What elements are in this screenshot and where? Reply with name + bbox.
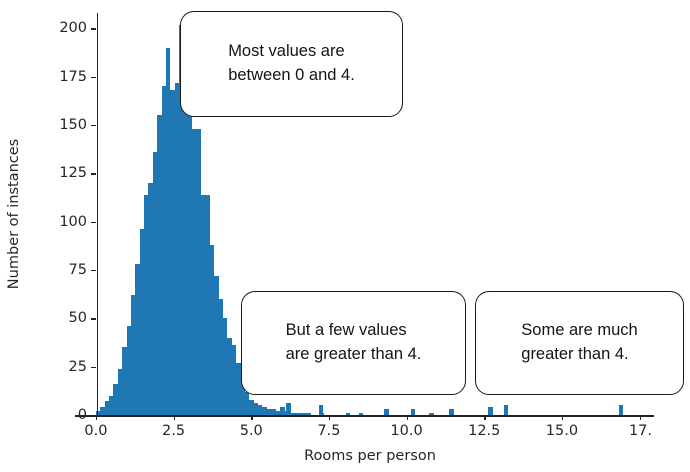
y-tick-label: 100 bbox=[59, 214, 87, 230]
callout-few-values: But a few values are greater than 4. bbox=[241, 291, 466, 395]
y-tick-mark bbox=[91, 222, 96, 223]
callout-most-values: Most values are between 0 and 4. bbox=[180, 11, 403, 117]
callout-some-values: Some are much greater than 4. bbox=[475, 291, 684, 395]
y-tick-label: 175 bbox=[59, 69, 87, 85]
y-tick-mark bbox=[91, 28, 96, 29]
x-tick-label: 12.5 bbox=[468, 423, 500, 439]
y-axis-line bbox=[97, 13, 99, 416]
x-axis-line bbox=[75, 415, 654, 417]
callout-few-values-text: But a few values are greater than 4. bbox=[286, 319, 422, 367]
x-tick-label: 10.0 bbox=[390, 423, 422, 439]
x-tick-label: 15.0 bbox=[546, 423, 578, 439]
x-tick-label: 7.5 bbox=[317, 423, 340, 439]
y-tick-mark bbox=[91, 367, 96, 368]
x-tick-mark bbox=[174, 415, 175, 420]
y-tick-label: 125 bbox=[59, 165, 87, 181]
histogram-bar bbox=[280, 407, 284, 415]
x-axis-label: Rooms per person bbox=[304, 448, 436, 464]
histogram-figure: 0.02.55.07.510.012.515.017. 025507510012… bbox=[0, 0, 690, 472]
x-tick-mark bbox=[562, 415, 563, 420]
histogram-bar bbox=[619, 405, 623, 415]
y-tick-mark bbox=[91, 125, 96, 126]
y-tick-label: 0 bbox=[78, 407, 87, 423]
histogram-bar bbox=[504, 405, 508, 415]
x-tick-mark bbox=[484, 415, 485, 420]
y-axis-label: Number of instances bbox=[6, 139, 22, 289]
x-tick-mark bbox=[329, 415, 330, 420]
y-tick-label: 200 bbox=[59, 20, 87, 36]
y-tick-mark bbox=[91, 270, 96, 271]
x-tick-label: 5.0 bbox=[240, 423, 263, 439]
histogram-bar bbox=[248, 401, 252, 415]
y-tick-mark bbox=[91, 173, 96, 174]
histogram-bar bbox=[488, 407, 492, 415]
histogram-bar bbox=[319, 405, 323, 415]
y-tick-label: 25 bbox=[69, 359, 87, 375]
y-tick-label: 150 bbox=[59, 117, 87, 133]
x-tick-mark bbox=[251, 415, 252, 420]
x-tick-mark bbox=[96, 415, 97, 420]
histogram-bar bbox=[286, 403, 290, 415]
y-tick-label: 75 bbox=[69, 262, 87, 278]
y-tick-mark bbox=[91, 415, 96, 416]
y-tick-label: 50 bbox=[69, 310, 87, 326]
x-tick-mark bbox=[407, 415, 408, 420]
x-tick-mark bbox=[640, 415, 641, 420]
x-tick-label: 0.0 bbox=[84, 423, 107, 439]
y-tick-mark bbox=[91, 77, 96, 78]
x-tick-label: 17. bbox=[629, 423, 652, 439]
callout-most-values-text: Most values are between 0 and 4. bbox=[228, 40, 355, 88]
y-tick-mark bbox=[91, 318, 96, 319]
x-tick-label: 2.5 bbox=[162, 423, 185, 439]
callout-some-values-text: Some are much greater than 4. bbox=[521, 319, 637, 367]
